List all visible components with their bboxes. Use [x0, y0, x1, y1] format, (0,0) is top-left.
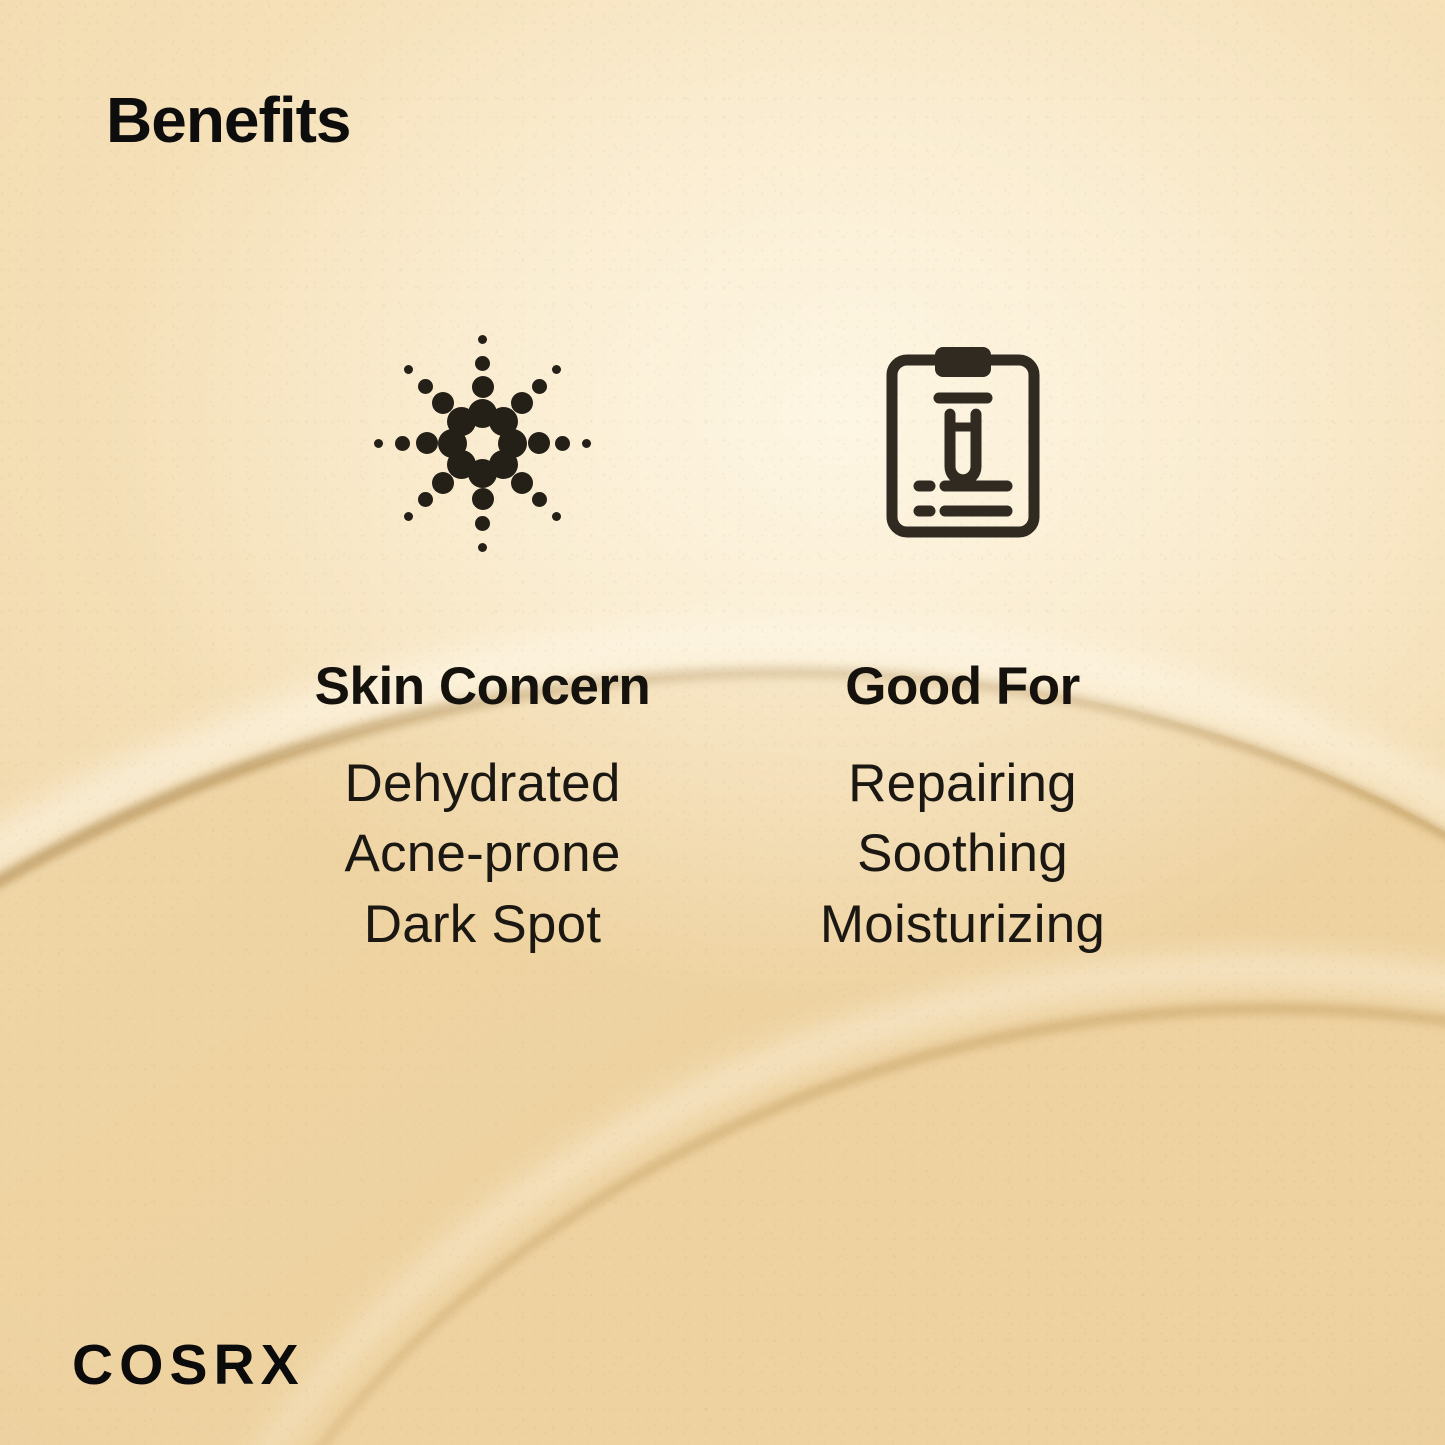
starburst-dot [404, 512, 413, 521]
starburst-dot [395, 436, 410, 451]
starburst-dot [416, 432, 438, 454]
starburst-dot [478, 543, 487, 552]
starburst-dot [418, 492, 433, 507]
starburst-dot [472, 488, 494, 510]
icon-slot [733, 318, 1193, 568]
skin-concern-list: Dehydrated Acne-prone Dark Spot [344, 749, 620, 960]
benefit-column-good-for: Good For Repairing Soothing Moisturizing [733, 318, 1193, 960]
starburst-dot [555, 436, 570, 451]
starburst-dot [532, 492, 547, 507]
starburst-dot [447, 407, 476, 436]
clipboard-clip [935, 347, 991, 377]
column-heading-good-for: Good For [845, 660, 1079, 713]
starburst-dot [552, 365, 561, 374]
good-for-list: Repairing Soothing Moisturizing [820, 749, 1105, 960]
starburst-dot [374, 439, 383, 448]
page-title: Benefits [106, 88, 351, 152]
list-item: Soothing [820, 819, 1105, 889]
starburst-dot [472, 376, 494, 398]
brand-logo-cosrx: COSRX [72, 1337, 305, 1394]
starburst-dot [478, 335, 487, 344]
starburst-dots-icon [372, 332, 594, 554]
list-item: Repairing [820, 749, 1105, 819]
starburst-dot [582, 439, 591, 448]
column-heading-skin-concern: Skin Concern [315, 660, 651, 713]
list-item: Dehydrated [344, 749, 620, 819]
starburst-dot [528, 432, 550, 454]
starburst-dot [475, 516, 490, 531]
benefit-column-skin-concern: Skin Concern Dehydrated Acne-prone Dark … [253, 318, 713, 960]
icon-slot [253, 318, 713, 568]
starburst-dot [552, 512, 561, 521]
benefits-columns: Skin Concern Dehydrated Acne-prone Dark … [0, 318, 1445, 960]
list-item: Acne-prone [344, 819, 620, 889]
list-item: Moisturizing [820, 890, 1105, 960]
starburst-dot [532, 379, 547, 394]
starburst-dot [418, 379, 433, 394]
starburst-dot [475, 356, 490, 371]
clipboard-test-tube-icon [883, 345, 1043, 541]
starburst-dot [511, 472, 533, 494]
starburst-dot [404, 365, 413, 374]
benefits-graphic: Benefits Skin Concern Dehydrated Acne-pr… [0, 0, 1445, 1445]
list-item: Dark Spot [344, 890, 620, 960]
